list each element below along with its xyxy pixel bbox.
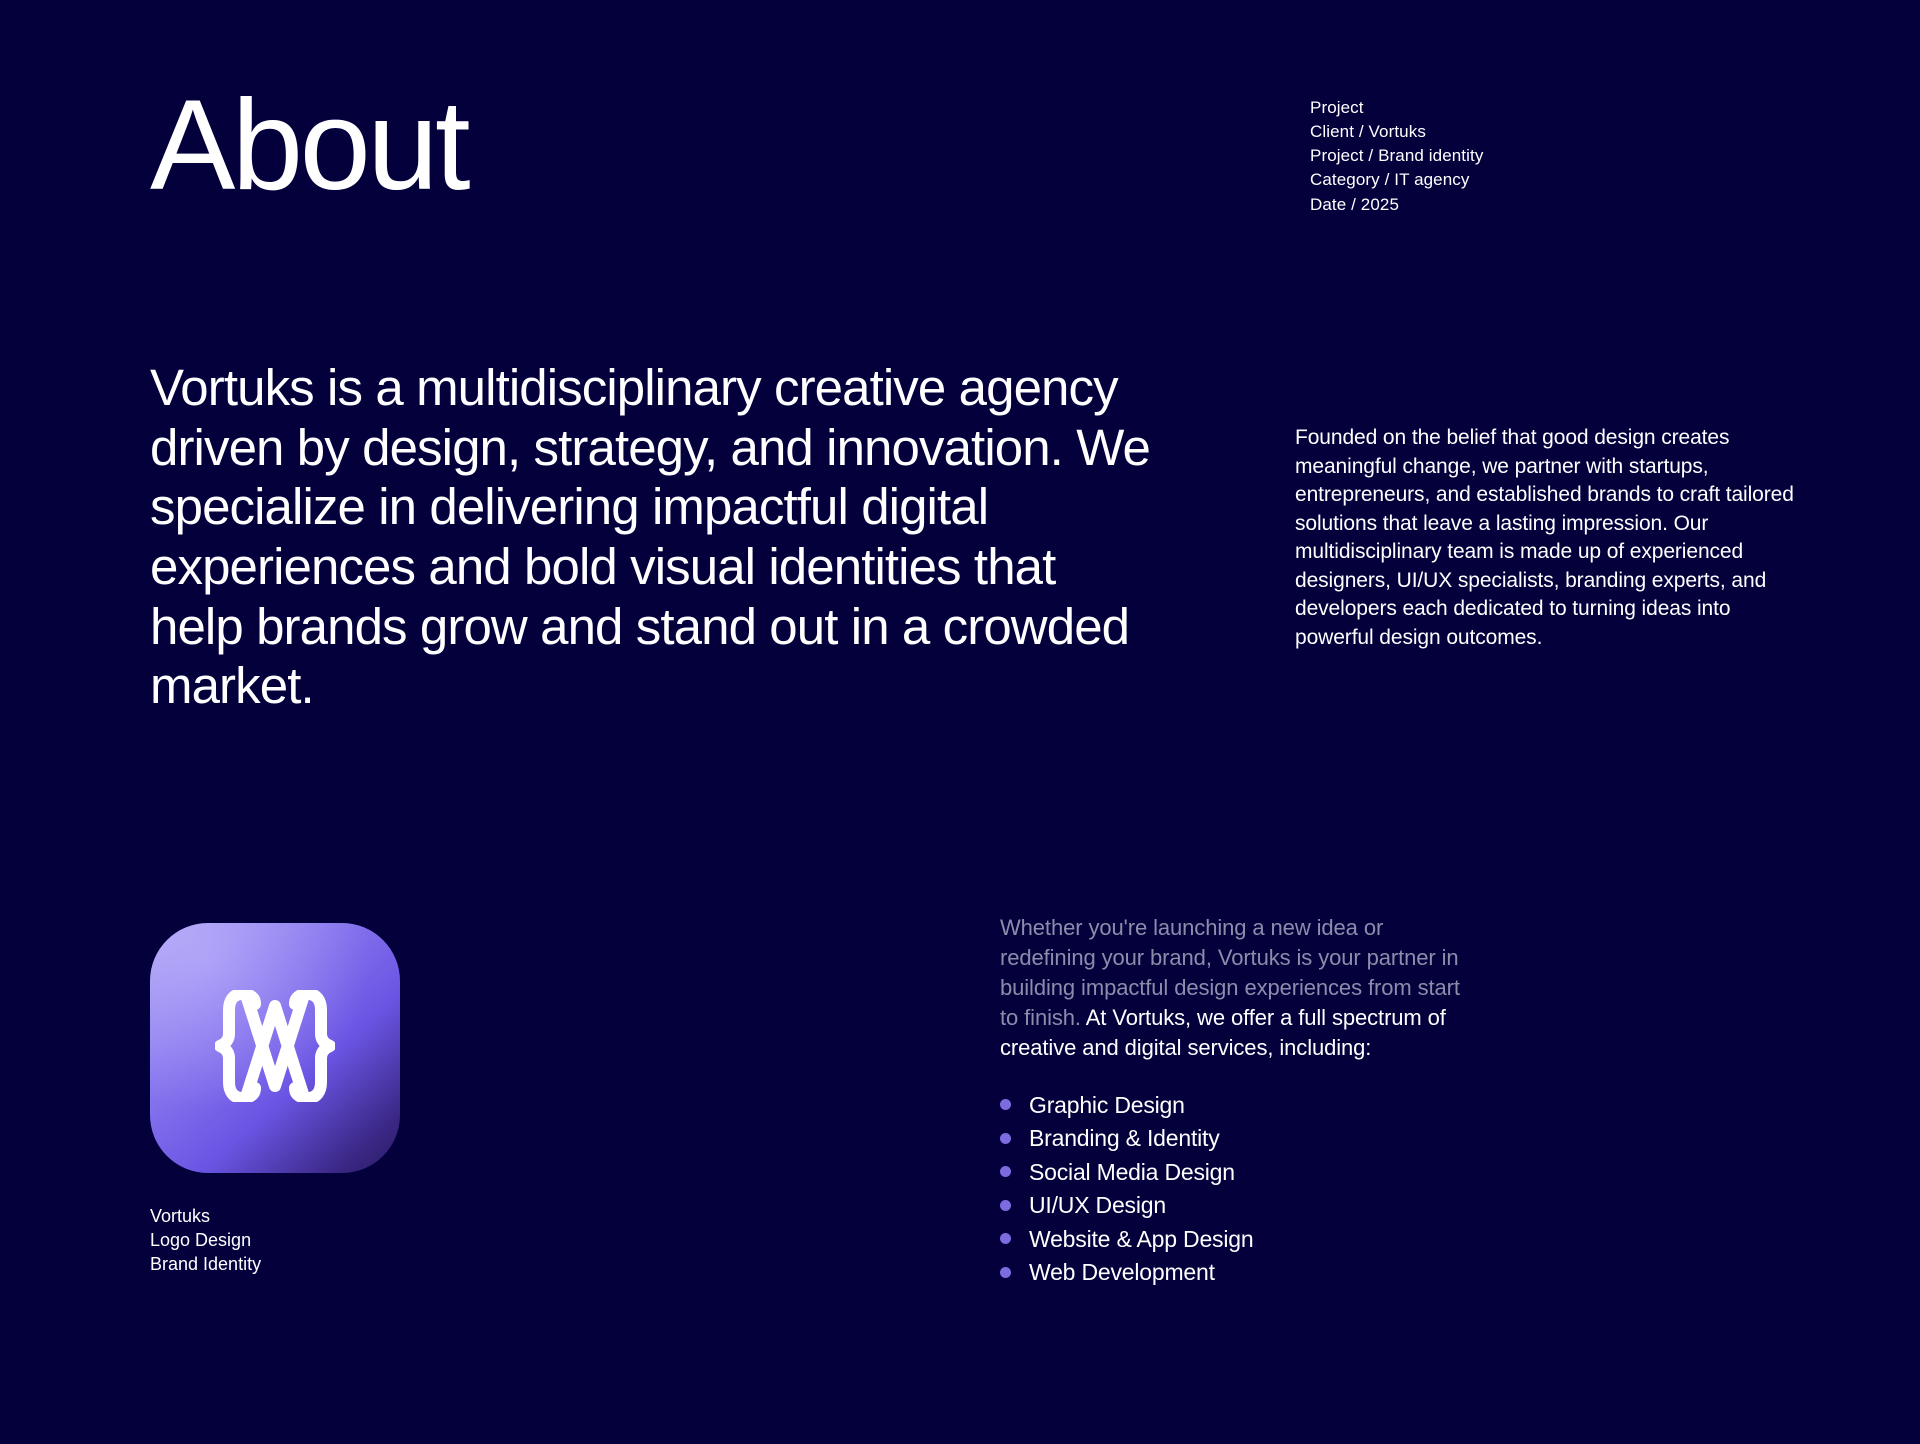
logo-block: Vortuks Logo Design Brand Identity [150,923,400,1277]
lead-statement: Vortuks is a multidisciplinary creative … [150,358,1160,716]
about-page: About Project Client / Vortuks Project /… [0,0,1920,1444]
bullet-dot-icon [1000,1200,1011,1211]
meta-line-category: Category / IT agency [1310,168,1483,192]
body-copy: Founded on the belief that good design c… [1295,424,1795,652]
services-intro: Whether you're launching a new idea or r… [1000,913,1480,1063]
logo-caption-scope: Brand Identity [150,1253,400,1277]
service-label: UI/UX Design [1029,1191,1166,1220]
services-list: Graphic Design Branding & Identity Socia… [1000,1091,1480,1287]
page-title: About [150,82,467,210]
meta-line-date: Date / 2025 [1310,193,1483,217]
project-meta: Project Client / Vortuks Project / Brand… [1310,96,1483,217]
list-item: Website & App Design [1000,1225,1480,1254]
list-item: UI/UX Design [1000,1191,1480,1220]
logo-tile [150,923,400,1173]
logo-caption-service: Logo Design [150,1229,400,1253]
bullet-dot-icon [1000,1099,1011,1110]
bullet-dot-icon [1000,1267,1011,1278]
logo-caption-brand: Vortuks [150,1205,400,1229]
list-item: Web Development [1000,1258,1480,1287]
service-label: Web Development [1029,1258,1215,1287]
list-item: Social Media Design [1000,1158,1480,1187]
meta-line-client: Client / Vortuks [1310,120,1483,144]
bullet-dot-icon [1000,1133,1011,1144]
service-label: Social Media Design [1029,1158,1235,1187]
service-label: Website & App Design [1029,1225,1253,1254]
list-item: Graphic Design [1000,1091,1480,1120]
list-item: Branding & Identity [1000,1124,1480,1153]
bullet-dot-icon [1000,1233,1011,1244]
service-label: Branding & Identity [1029,1124,1220,1153]
service-label: Graphic Design [1029,1091,1185,1120]
vortuks-monogram-icon [215,990,335,1107]
meta-line-project: Project / Brand identity [1310,144,1483,168]
bullet-dot-icon [1000,1166,1011,1177]
logo-caption: Vortuks Logo Design Brand Identity [150,1205,400,1277]
services-block: Whether you're launching a new idea or r… [1000,913,1480,1292]
meta-line-label: Project [1310,96,1483,120]
